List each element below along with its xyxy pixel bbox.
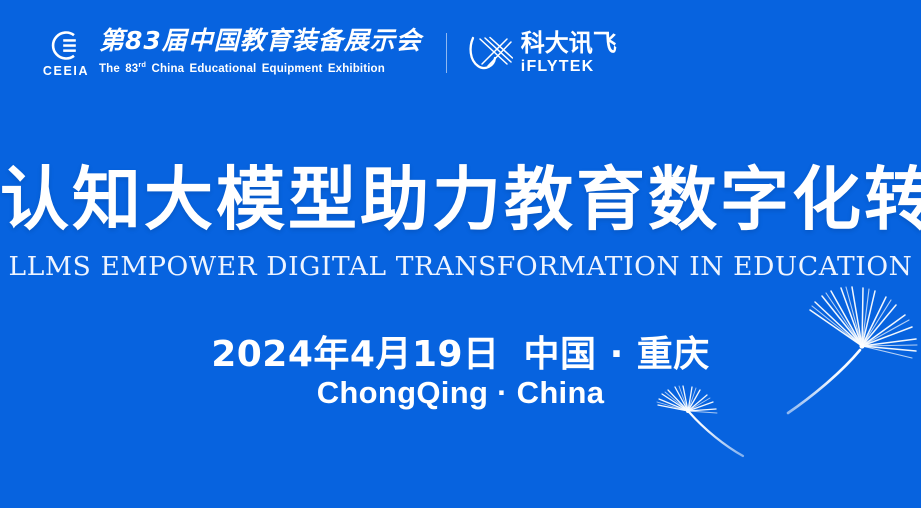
iflytek-x-mark-icon: [467, 33, 513, 73]
header-divider: [446, 33, 447, 73]
ceeia-title-group: 第83届中国教育装备展示会 The 83rd China Educational…: [99, 28, 422, 74]
event-poster: CEEIA 第83届中国教育装备展示会 The 83rd China Educa…: [0, 0, 921, 508]
exhibition-title-cn: 第83届中国教育装备展示会: [99, 28, 422, 54]
ceeia-circle-e-icon: [50, 29, 83, 62]
exhibition-title-en: The 83rd China Educational Equipment Exh…: [99, 60, 422, 75]
header-logo-bar: CEEIA 第83届中国教育装备展示会 The 83rd China Educa…: [40, 26, 617, 80]
exhibition-title-en-ordinal: rd: [138, 60, 146, 69]
ceeia-wordmark: CEEIA: [43, 65, 89, 78]
poster-main-title: 认知大模型助力教育数字化转型: [0, 163, 921, 236]
iflytek-name-cn: 科大讯飞: [521, 31, 617, 56]
event-location-en: ChongQing · China: [0, 375, 921, 411]
event-location-cn: 中国 · 重庆: [524, 334, 710, 375]
ceeia-logo: CEEIA 第83届中国教育装备展示会 The 83rd China Educa…: [40, 28, 422, 78]
iflytek-name-en: iFLYTEK: [521, 59, 617, 75]
iflytek-logo: 科大讯飞 iFLYTEK: [467, 31, 617, 74]
event-date-location-cn: 2024年4月19日中国 · 重庆: [0, 325, 921, 377]
exhibition-title-en-prefix: The 83: [99, 62, 138, 74]
poster-subtitle-en: LLMS EMPOWER DIGITAL TRANSFORMATION IN E…: [0, 252, 921, 281]
ceeia-logo-mark: CEEIA: [40, 29, 92, 78]
exhibition-title-en-suffix: China Educational Equipment Exhibition: [146, 62, 385, 74]
event-date-cn: 2024年4月19日: [211, 334, 499, 375]
iflytek-name-group: 科大讯飞 iFLYTEK: [521, 31, 617, 74]
